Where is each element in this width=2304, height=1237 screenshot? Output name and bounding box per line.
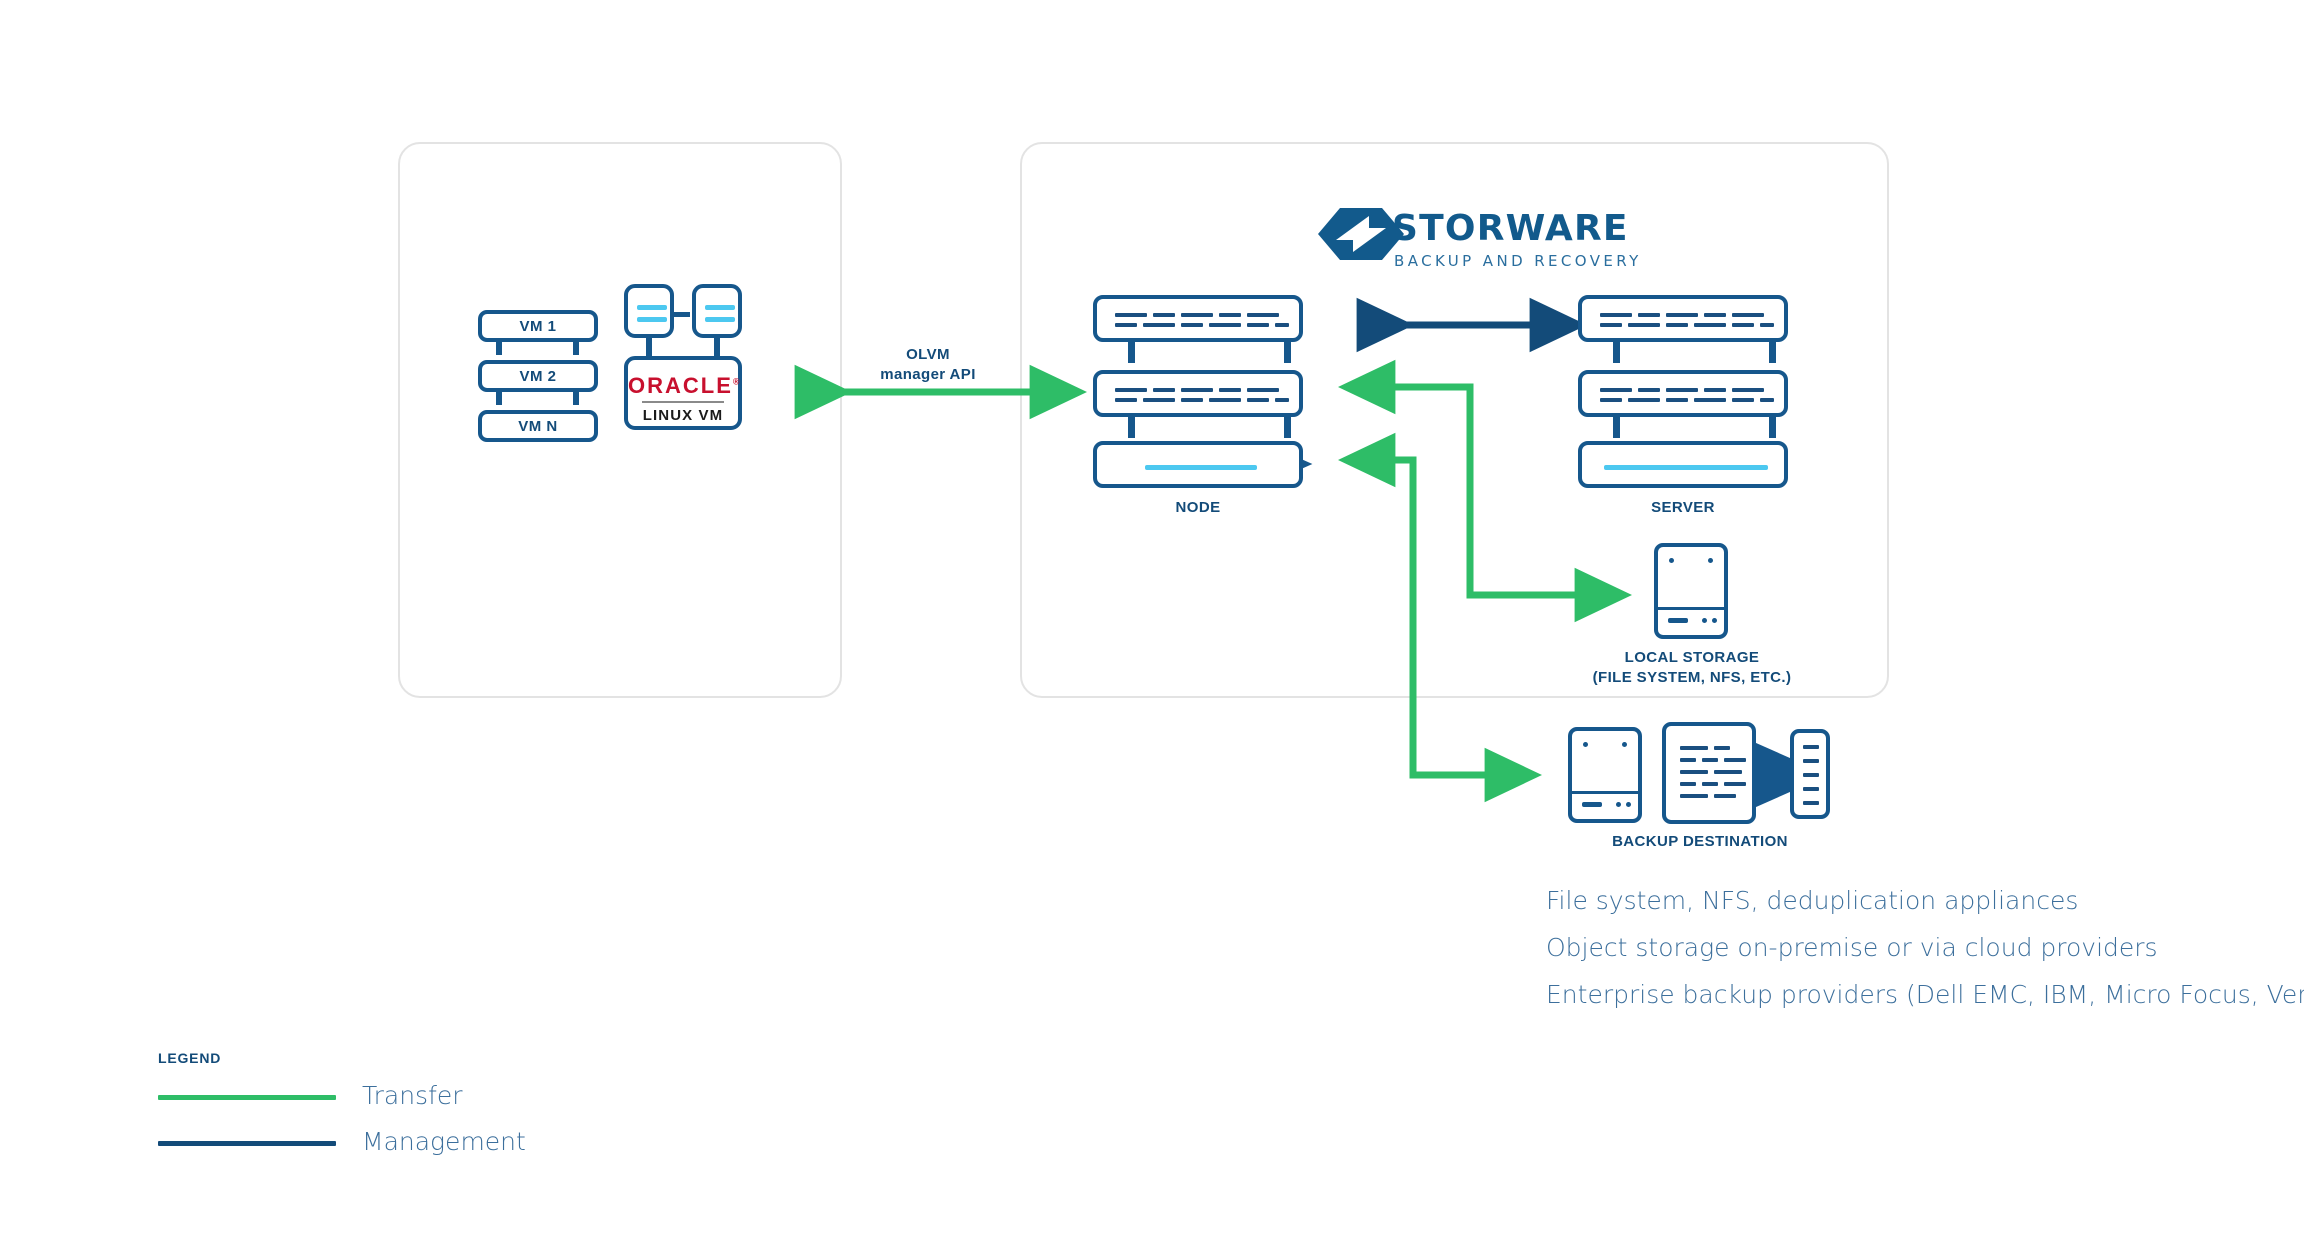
olvm-connector-label: OLVM manager API bbox=[838, 345, 1018, 386]
server-label: SERVER bbox=[1578, 498, 1788, 518]
server-rack-stub bbox=[1613, 339, 1620, 363]
oracle-trademark-mark: ® bbox=[733, 377, 742, 387]
legend-title: LEGEND bbox=[158, 1050, 221, 1066]
node-rack-stub bbox=[1284, 339, 1291, 363]
legend-label-transfer: Transfer bbox=[362, 1081, 463, 1110]
storware-tagline: BACKUP AND RECOVERY bbox=[1394, 252, 1642, 270]
node-rack-unit-1[interactable] bbox=[1093, 295, 1303, 342]
vm-box-1[interactable]: VM 1 bbox=[478, 310, 598, 342]
server-rack-stub bbox=[1769, 414, 1776, 438]
server-rack-stub bbox=[1613, 414, 1620, 438]
oracle-connector-stub bbox=[714, 337, 720, 357]
server-rack-unit-1[interactable] bbox=[1578, 295, 1788, 342]
node-rack-stub bbox=[1128, 339, 1135, 363]
vm-label: VM 1 bbox=[519, 318, 556, 335]
destination-note-2: Object storage on-premise or via cloud p… bbox=[1546, 935, 2158, 960]
oracle-linux-vm-box[interactable]: ORACLE® LINUX VM bbox=[624, 356, 742, 430]
node-throughput-bar bbox=[1145, 465, 1257, 470]
local-storage-drive-icon[interactable] bbox=[1654, 543, 1728, 639]
oracle-connector-stub bbox=[646, 337, 652, 357]
legend-swatch-transfer bbox=[158, 1095, 336, 1100]
diagram-canvas: VM 1 VM 2 VM N ORACLE® LINUX VM bbox=[0, 0, 2304, 1237]
backup-destination-label: BACKUP DESTINATION bbox=[1540, 832, 1860, 852]
server-rack-stub bbox=[1769, 339, 1776, 363]
server-rack-unit-3[interactable] bbox=[1578, 441, 1788, 488]
node-rack-unit-3[interactable] bbox=[1093, 441, 1303, 488]
node-rack-stub bbox=[1128, 414, 1135, 438]
oracle-module-box-right[interactable] bbox=[692, 284, 742, 338]
backup-data-block-icon[interactable] bbox=[1662, 722, 1756, 824]
node-rack-stub bbox=[1284, 414, 1291, 438]
oracle-subtitle: LINUX VM bbox=[628, 407, 738, 424]
legend-swatch-management bbox=[158, 1141, 336, 1146]
vm-box-2[interactable]: VM 2 bbox=[478, 360, 598, 392]
oracle-divider bbox=[642, 401, 724, 403]
vm-label: VM 2 bbox=[519, 368, 556, 385]
virtualization-platform-panel bbox=[398, 142, 842, 698]
vm-label: VM N bbox=[518, 418, 558, 435]
vm-box-n[interactable]: VM N bbox=[478, 410, 598, 442]
storware-wordmark: STORWARE bbox=[1392, 208, 1629, 249]
destination-note-3: Enterprise backup providers (Dell EMC, I… bbox=[1546, 982, 2304, 1007]
node-rack-unit-2[interactable] bbox=[1093, 370, 1303, 417]
legend-label-management: Management bbox=[362, 1127, 526, 1156]
server-rack-unit-2[interactable] bbox=[1578, 370, 1788, 417]
node-label: NODE bbox=[1093, 498, 1303, 518]
oracle-module-box-left[interactable] bbox=[624, 284, 674, 338]
destination-note-1: File system, NFS, deduplication applianc… bbox=[1546, 888, 2078, 913]
local-storage-label: LOCAL STORAGE (FILE SYSTEM, NFS, ETC.) bbox=[1570, 648, 1814, 689]
oracle-brand-text: ORACLE® bbox=[628, 373, 738, 399]
backup-compressed-block-icon[interactable] bbox=[1790, 729, 1830, 819]
server-throughput-bar bbox=[1604, 465, 1768, 470]
backup-destination-drive-icon[interactable] bbox=[1568, 727, 1642, 823]
